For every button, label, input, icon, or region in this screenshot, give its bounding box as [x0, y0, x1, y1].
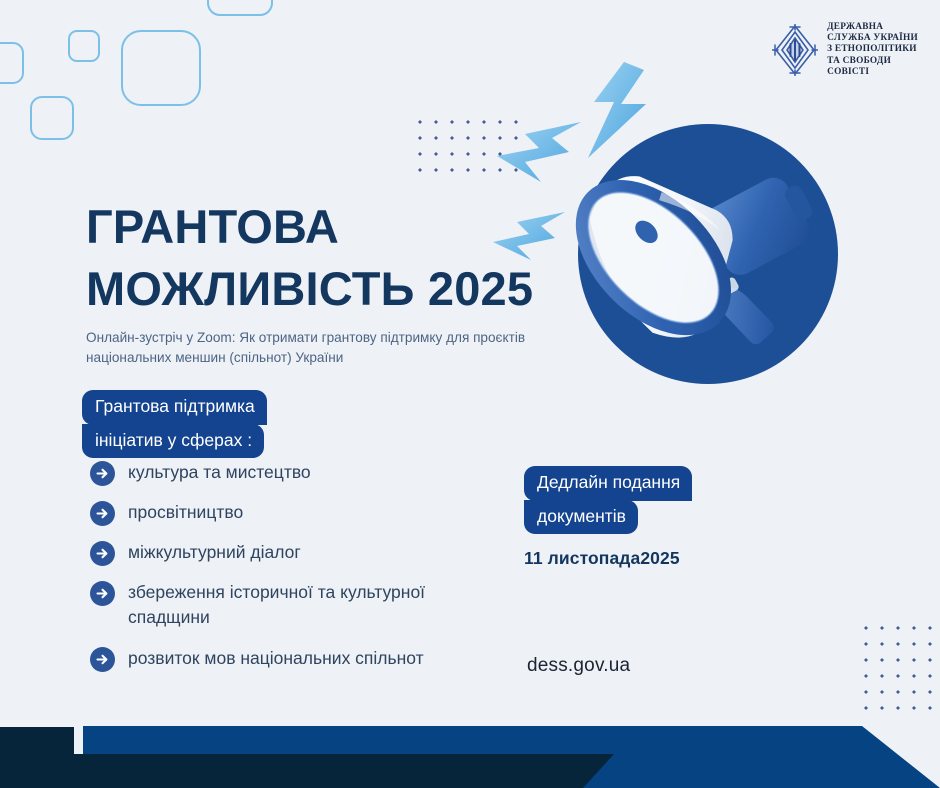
list-item-label: розвиток мов національних спільнот [128, 646, 424, 671]
dot-grid-bottom [856, 618, 940, 716]
arrow-right-circle-icon [90, 461, 115, 486]
list-item-label: культура та мистецтво [128, 460, 311, 485]
badge-line-2: документів [524, 500, 638, 535]
megaphone-illustration [558, 112, 840, 384]
badge-line-1: Дедлайн подання [524, 466, 692, 501]
title-line-2: МОЖЛИВІСТЬ 2025 [86, 258, 533, 320]
arrow-right-circle-icon [90, 541, 115, 566]
subtitle: Онлайн-зустріч у Zoom: Як отримати грант… [86, 328, 546, 368]
logo-text: ДЕРЖАВНА СЛУЖБА УКРАЇНИ З ЕТНОПОЛІТИКИ Т… [827, 22, 918, 78]
arrow-right-circle-icon [90, 501, 115, 526]
decor-rounded-square [30, 96, 74, 140]
footer-dark-band [0, 754, 940, 788]
badge-line-2: ініціатив у сферах : [82, 424, 264, 459]
decor-rounded-square [68, 30, 100, 62]
arrow-right-circle-icon [90, 581, 115, 606]
decor-rounded-square [207, 0, 273, 16]
poster-canvas: ДЕРЖАВНА СЛУЖБА УКРАЇНИ З ЕТНОПОЛІТИКИ Т… [0, 0, 940, 788]
emblem-icon [772, 24, 818, 76]
logo-line: СЛУЖБА УКРАЇНИ [827, 33, 918, 44]
grants-support-badge: Грантова підтримка ініціатив у сферах : [82, 390, 267, 458]
list-item: культура та мистецтво [90, 460, 490, 486]
list-item: розвиток мов національних спільнот [90, 646, 490, 672]
logo-line: СОВІСТІ [827, 67, 918, 78]
decor-rounded-square [0, 42, 24, 84]
logo-line: З ЕТНОПОЛІТИКИ [827, 44, 918, 55]
arrow-right-circle-icon [90, 647, 115, 672]
title-line-1: ГРАНТОВА [86, 200, 339, 253]
decor-rounded-square [121, 30, 201, 106]
logo-line: ДЕРЖАВНА [827, 22, 918, 33]
list-item: міжкультурний діалог [90, 540, 490, 566]
deadline-date: 11 листопада2025 [524, 548, 680, 569]
organization-logo: ДЕРЖАВНА СЛУЖБА УКРАЇНИ З ЕТНОПОЛІТИКИ Т… [772, 22, 918, 78]
list-item: просвітництво [90, 500, 490, 526]
list-item-label: міжкультурний діалог [128, 540, 301, 565]
grant-areas-list: культура та мистецтво просвітництво міжк… [90, 460, 490, 686]
page-title: ГРАНТОВА МОЖЛИВІСТЬ 2025 [86, 196, 533, 320]
logo-line: ТА СВОБОДИ [827, 56, 918, 67]
list-item-label: збереження історичної та культурної спад… [128, 580, 490, 630]
badge-line-1: Грантова підтримка [82, 390, 267, 425]
website-url[interactable]: dess.gov.ua [527, 655, 630, 677]
deadline-badge: Дедлайн подання документів [524, 466, 692, 534]
list-item: збереження історичної та культурної спад… [90, 580, 490, 630]
list-item-label: просвітництво [128, 500, 243, 525]
